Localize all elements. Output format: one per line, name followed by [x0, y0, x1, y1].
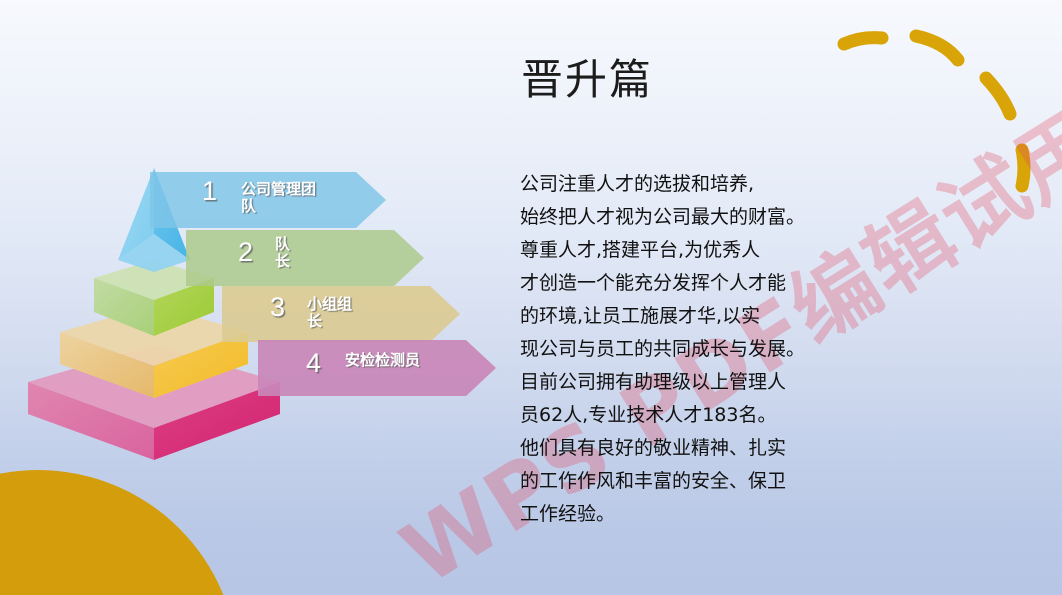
body-line: 的工作作风和丰富的安全、保卫	[520, 465, 880, 498]
arc-segment-1	[844, 38, 882, 44]
pyramid-banner-2[interactable]: 2 队长	[186, 230, 424, 286]
body-line: 的环境,让员工施展才华,以实	[520, 300, 880, 333]
banner-2-label: 队长	[275, 236, 301, 270]
body-line: 始终把人才视为公司最大的财富。	[520, 201, 880, 234]
body-line: 员62人,专业技术人才183名。	[520, 399, 880, 432]
body-line: 工作经验。	[520, 498, 880, 531]
banner-4-number: 4	[306, 350, 321, 377]
banner-1-number: 1	[202, 178, 217, 205]
slide-canvas: 1 公司管理团队 2 队长 3 小组组长 4 安检检测员 WPS	[0, 0, 1062, 595]
body-line: 公司注重人才的选拔和培养,	[520, 168, 880, 201]
pyramid-banner-1[interactable]: 1 公司管理团队	[150, 172, 386, 228]
arc-segment-3	[986, 78, 1010, 114]
body-line: 现公司与员工的共同成长与发展。	[520, 333, 880, 366]
pyramid-banner-4[interactable]: 4 安检检测员	[258, 340, 496, 396]
body-line: 才创造一个能充分发挥个人才能	[520, 267, 880, 300]
orange-circle-decoration	[0, 470, 238, 595]
arc-segment-2	[916, 36, 958, 60]
pyramid-banner-3[interactable]: 3 小组组长	[222, 286, 460, 342]
banner-4-label: 安检检测员	[345, 352, 421, 369]
body-line: 尊重人才,搭建平台,为优秀人	[520, 234, 880, 267]
banner-3-label: 小组组长	[307, 296, 363, 330]
banner-3-number: 3	[270, 294, 285, 321]
body-line: 目前公司拥有助理级以上管理人	[520, 366, 880, 399]
banner-1-label: 公司管理团队	[241, 181, 327, 215]
body-line: 他们具有良好的敬业精神、扎实	[520, 432, 880, 465]
body-paragraph: 公司注重人才的选拔和培养, 始终把人才视为公司最大的财富。 尊重人才,搭建平台,…	[520, 168, 880, 531]
arc-segment-4	[1022, 150, 1024, 186]
slide-title: 晋升篇	[521, 60, 653, 102]
banner-2-number: 2	[238, 239, 253, 266]
